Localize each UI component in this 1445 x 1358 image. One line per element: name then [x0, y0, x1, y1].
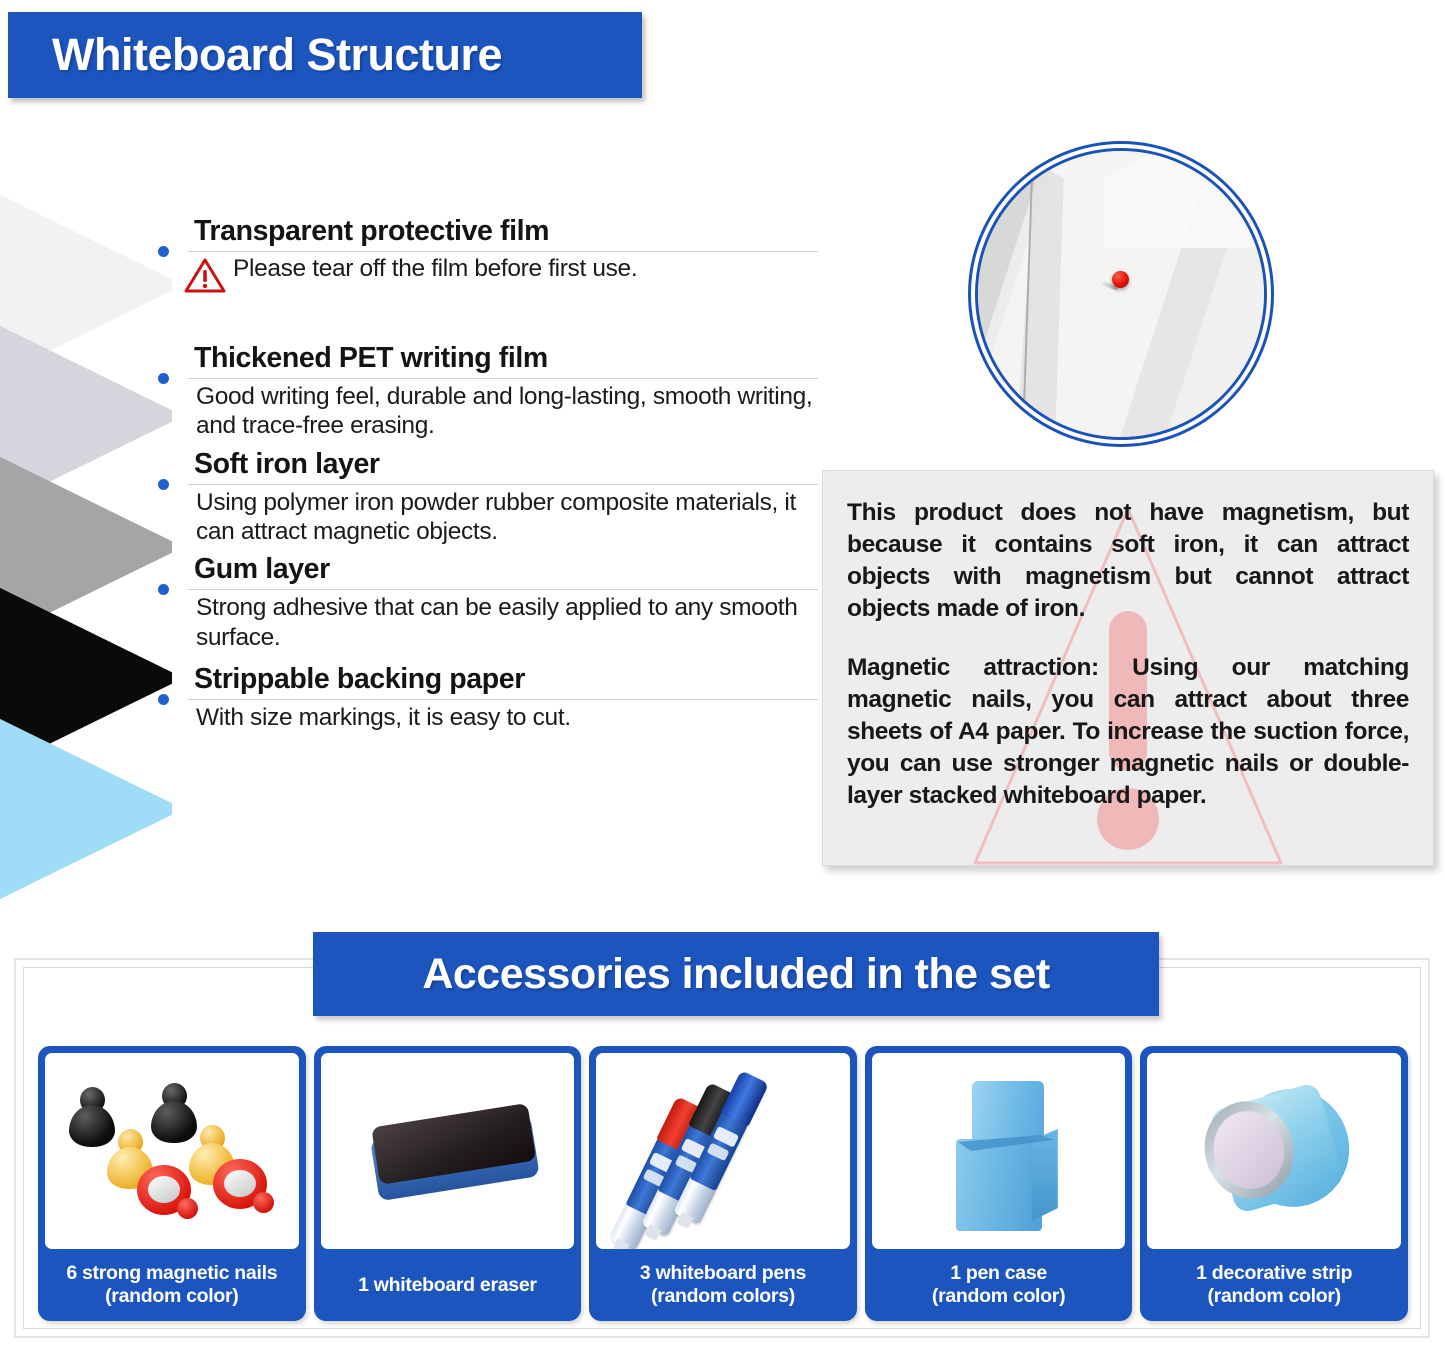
- accessory-card-label: 1 decorative strip (random color): [1147, 1249, 1401, 1321]
- accessory-card-label: 1 whiteboard eraser: [321, 1249, 575, 1321]
- layer-heading: Gum layer: [158, 554, 818, 586]
- accessory-label-line2: (random color): [105, 1285, 238, 1308]
- accessory-card-magnetic-nails[interactable]: 6 strong magnetic nails (random color): [38, 1046, 306, 1321]
- layer-description: With size markings, it is easy to cut.: [158, 703, 818, 732]
- layer-heading: Thickened PET writing film: [158, 343, 818, 375]
- whiteboard-eraser-photo: [321, 1053, 575, 1249]
- decorative-strip-photo: [1147, 1053, 1401, 1249]
- layer-separator: [188, 378, 818, 379]
- layer-bullet-dot: [158, 694, 169, 705]
- layer-item-transparent-protective-film: Transparent protective film Please tear …: [158, 216, 818, 299]
- warning-triangle-icon: [184, 257, 226, 299]
- layer-bullet-dot: [158, 479, 169, 490]
- accessories-banner: Accessories included in the set: [313, 932, 1159, 1016]
- layer-separator: [188, 589, 818, 590]
- wedge-strippable-backing-paper: [0, 714, 172, 904]
- accessory-label-line1: 3 whiteboard pens: [640, 1262, 806, 1285]
- accessory-label-line1: 1 pen case: [950, 1262, 1047, 1285]
- magnetic-nail-red-1: [137, 1165, 191, 1215]
- layer-warning-line: Please tear off the film before first us…: [158, 255, 818, 299]
- accessories-card-list: 6 strong magnetic nails (random color) 1…: [38, 1046, 1408, 1321]
- layer-item-gum-layer: Gum layer Strong adhesive that can be ea…: [158, 554, 818, 652]
- layer-separator: [188, 699, 818, 700]
- accessory-label-line2: (random color): [1207, 1285, 1340, 1308]
- accessory-card-pen-case[interactable]: 1 pen case (random color): [865, 1046, 1133, 1321]
- layer-item-soft-iron-layer: Soft iron layer Using polymer iron powde…: [158, 449, 818, 547]
- accessory-card-label: 6 strong magnetic nails (random color): [45, 1249, 299, 1321]
- accessory-label-line2: (random colors): [651, 1285, 795, 1308]
- magnetism-info-box: This product does not have magnetism, bu…: [822, 470, 1434, 866]
- accessory-card-whiteboard-pens[interactable]: 3 whiteboard pens (random colors): [589, 1046, 857, 1321]
- info-paragraph-1: This product does not have magnetism, bu…: [847, 497, 1409, 624]
- accessories-title: Accessories included in the set: [422, 950, 1049, 999]
- layer-description-list: Transparent protective film Please tear …: [158, 216, 818, 732]
- whiteboard-pens-photo: [596, 1053, 850, 1249]
- layer-bullet-dot: [158, 373, 169, 384]
- layer-stack-diagram: [0, 190, 180, 840]
- layer-heading: Strippable backing paper: [158, 664, 818, 696]
- pen-case-photo: [872, 1053, 1126, 1249]
- layer-bullet-dot: [158, 246, 169, 257]
- magnetic-nail-red-2: [213, 1159, 267, 1209]
- pen-case-body: [946, 1081, 1068, 1231]
- info-paragraph-2: Magnetic attraction: Using our matching …: [847, 652, 1409, 811]
- accessory-label-line1: 6 strong magnetic nails: [66, 1262, 277, 1285]
- layer-description: Strong adhesive that can be easily appli…: [158, 593, 818, 652]
- accessory-card-whiteboard-eraser[interactable]: 1 whiteboard eraser: [314, 1046, 582, 1321]
- page-title-banner: Whiteboard Structure: [8, 12, 642, 98]
- layer-item-strippable-backing-paper: Strippable backing paper With size marki…: [158, 664, 818, 732]
- accessory-card-label: 3 whiteboard pens (random colors): [596, 1249, 850, 1321]
- accessory-card-label: 1 pen case (random color): [872, 1249, 1126, 1321]
- tape-roll-body: [1201, 1089, 1357, 1215]
- layer-item-pet-writing-film: Thickened PET writing film Good writing …: [158, 343, 818, 441]
- layer-description: Good writing feel, durable and long-last…: [158, 382, 818, 441]
- page-title: Whiteboard Structure: [52, 29, 502, 81]
- layer-description: Using polymer iron powder rubber composi…: [158, 488, 818, 547]
- accessory-label-line1: 1 whiteboard eraser: [358, 1274, 537, 1297]
- magnetic-nails-photo: [45, 1053, 299, 1249]
- accessory-label-line2: (random color): [932, 1285, 1065, 1308]
- accessory-card-decorative-strip[interactable]: 1 decorative strip (random color): [1140, 1046, 1408, 1321]
- accessory-label-line1: 1 decorative strip: [1196, 1262, 1352, 1285]
- layer-heading: Transparent protective film: [158, 216, 818, 248]
- layer-description: Please tear off the film before first us…: [233, 255, 637, 283]
- layer-separator: [188, 251, 818, 252]
- layer-separator: [188, 484, 818, 485]
- layer-heading: Soft iron layer: [158, 449, 818, 481]
- eraser-body: [368, 1103, 540, 1201]
- magnifier-photo-circle: [975, 148, 1267, 440]
